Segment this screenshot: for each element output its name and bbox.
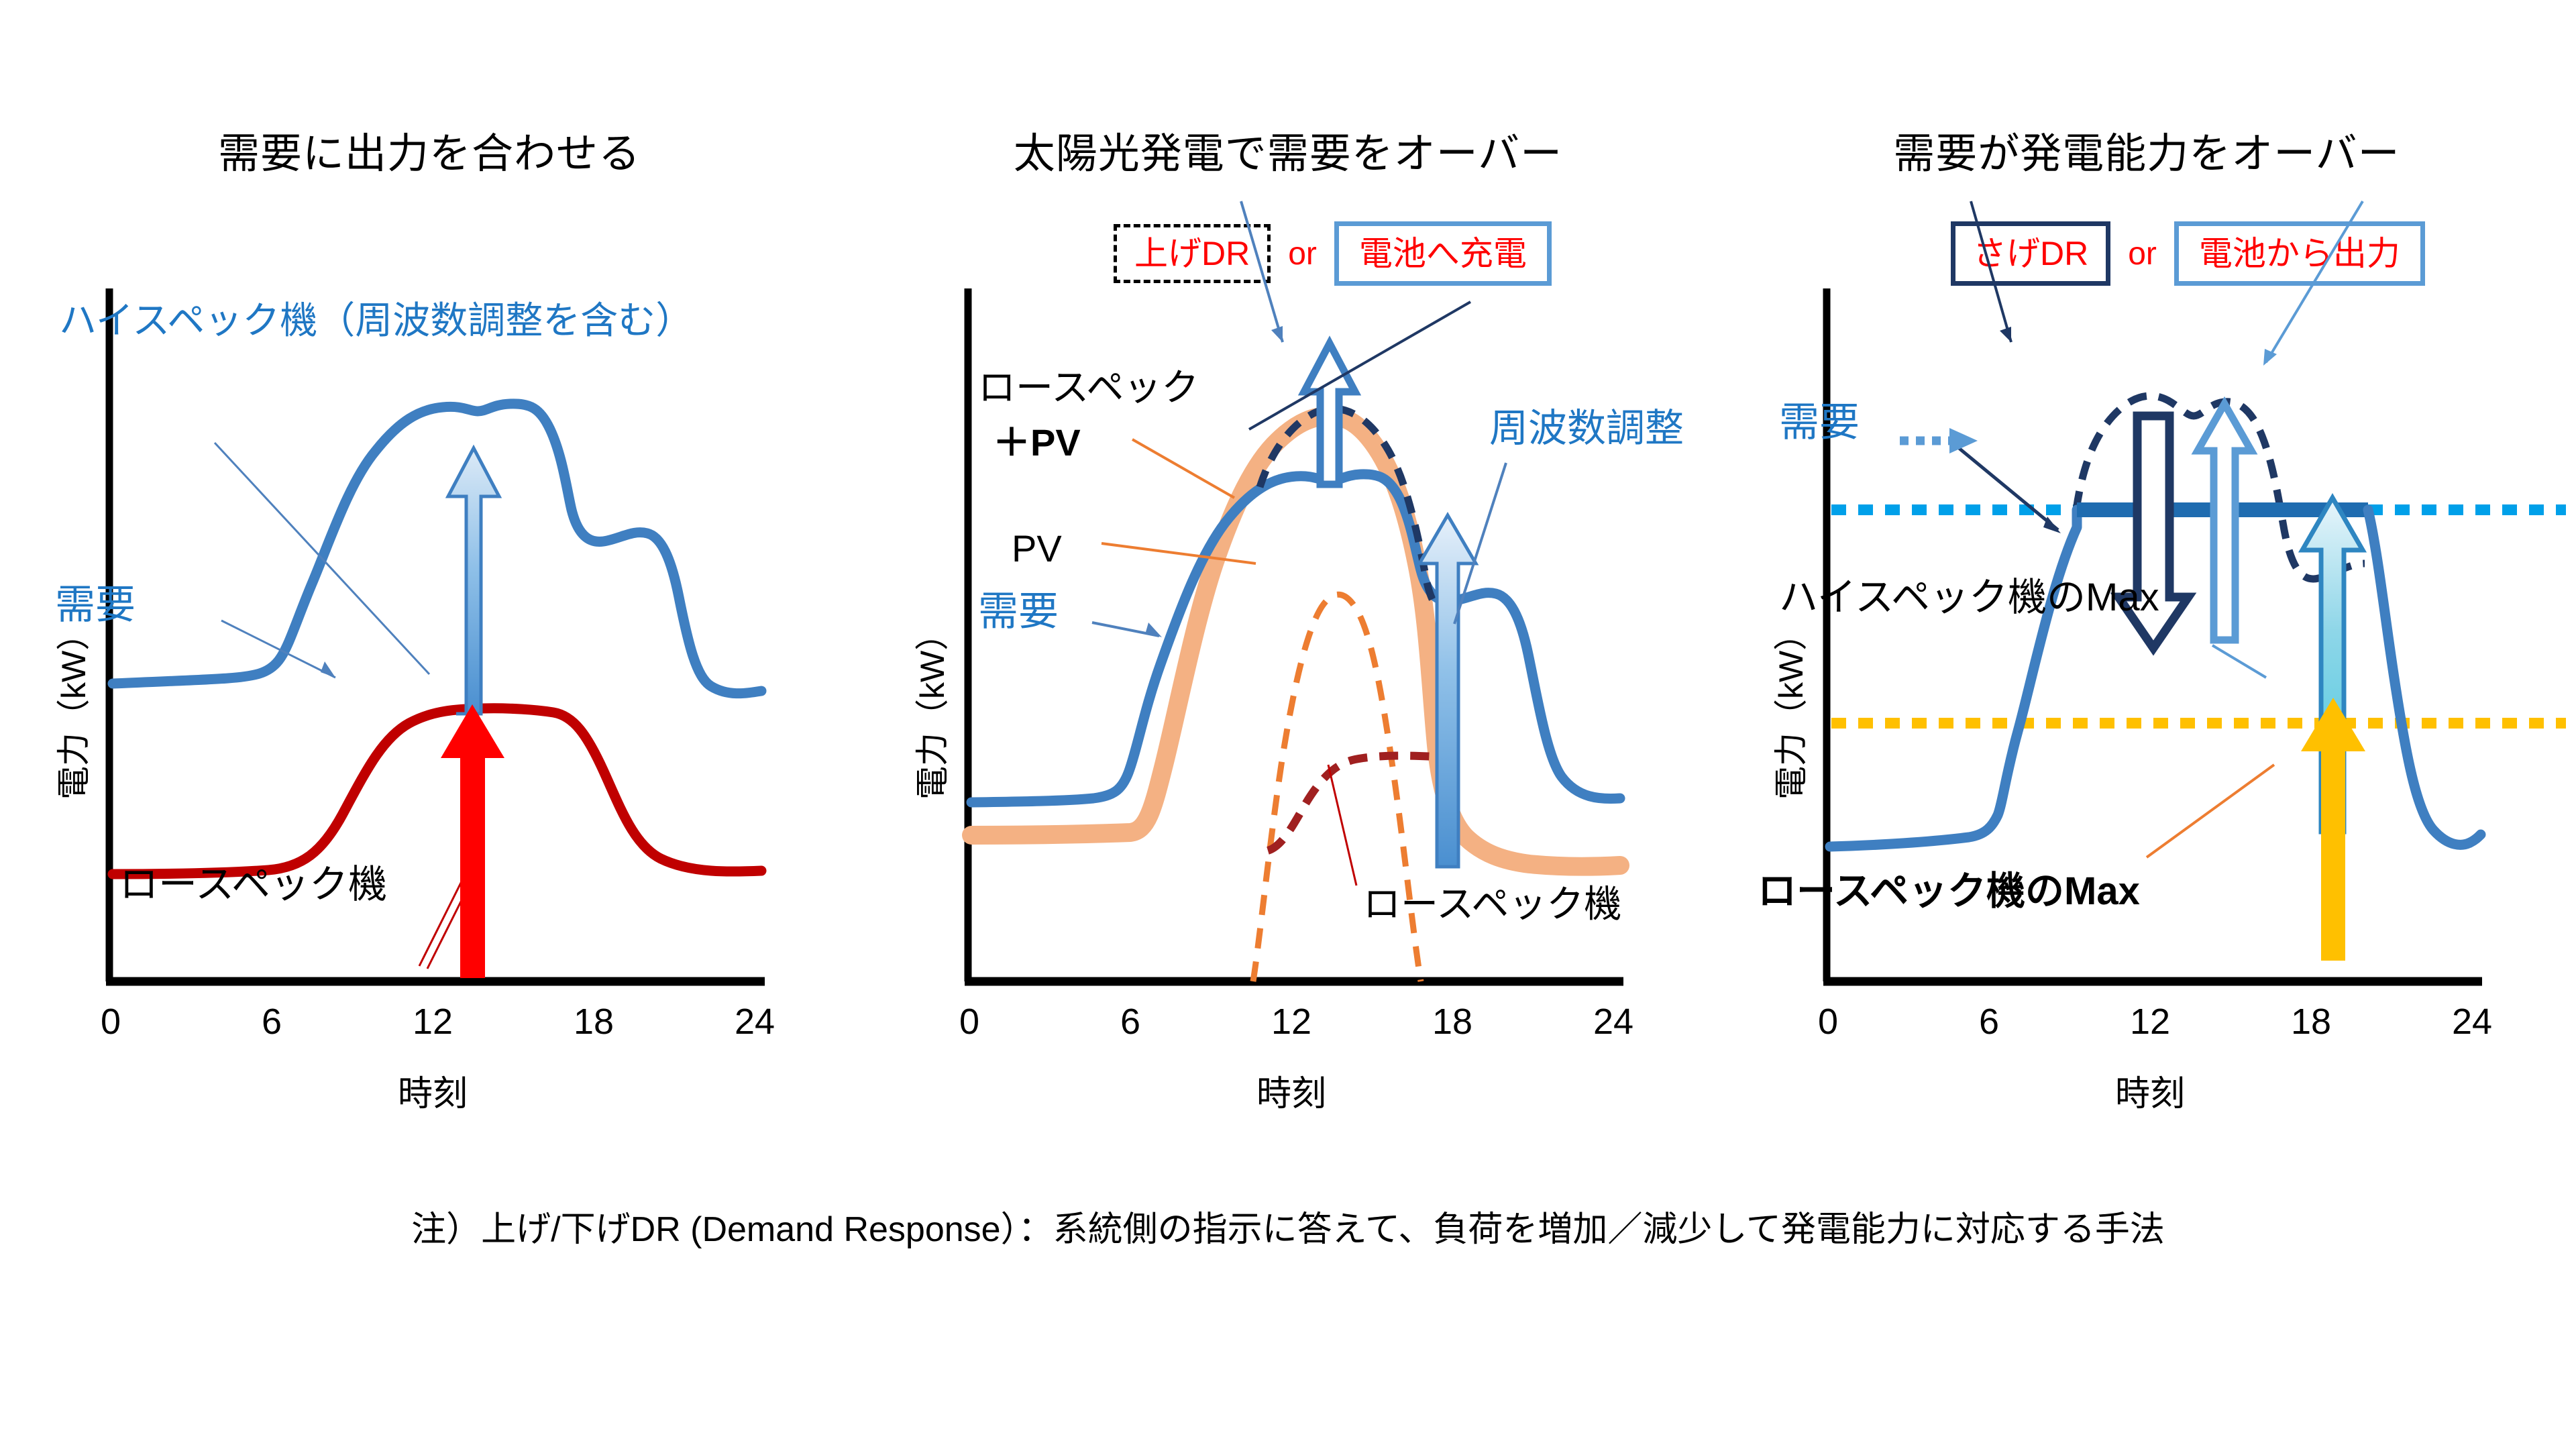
label-low-spec-max: ロースペック機のMax	[1758, 871, 2140, 913]
x-tick-24: 24	[735, 1001, 775, 1042]
label-pv: PV	[1012, 529, 1062, 569]
label-demand: 需要	[1779, 401, 1860, 445]
label-lowspec-pv-2: ＋PV	[993, 423, 1081, 463]
blue-up-arrow	[448, 448, 499, 714]
leader-battery-out	[2266, 201, 2363, 362]
x-tick-24: 24	[2452, 1001, 2492, 1042]
x-tick-18: 18	[1432, 1001, 1472, 1042]
x-tick-18: 18	[2291, 1001, 2331, 1042]
x-tick-24: 24	[1593, 1001, 1633, 1042]
panel-1-plot	[0, 0, 859, 1154]
y-axis-label: 電力（kW）	[906, 617, 954, 800]
label-low-spec: ロースペック機	[119, 864, 387, 906]
demand-curve	[113, 404, 761, 694]
leader-up-dr	[1241, 201, 1283, 342]
label-high-spec: ハイスペック機（周波数調整を含む）	[59, 301, 693, 341]
red-up-arrow	[441, 704, 504, 978]
amber-up-arrow	[2301, 698, 2365, 961]
x-tick-0: 0	[1818, 1001, 1838, 1042]
x-tick-12: 12	[413, 1001, 453, 1042]
x-axis-label: 時刻	[2115, 1065, 2185, 1116]
y-axis-label: 電力（kW）	[1764, 617, 1813, 800]
x-axis-label: 時刻	[1256, 1065, 1326, 1116]
x-tick-12: 12	[1271, 1001, 1311, 1042]
x-tick-6: 6	[1979, 1001, 1999, 1042]
label-demand: 需要	[978, 590, 1059, 634]
x-tick-6: 6	[1120, 1001, 1140, 1042]
leader-demand	[221, 621, 335, 678]
leader-up-dr-head	[1271, 326, 1283, 342]
x-tick-0: 0	[101, 1001, 121, 1042]
label-low-spec: ロースペック機	[1363, 884, 1621, 924]
leader-lowspec-pv	[1132, 439, 1234, 498]
x-tick-0: 0	[959, 1001, 979, 1042]
label-high-spec-max: ハイスペック機のMax	[1779, 577, 2159, 619]
leader-low-spec	[1328, 765, 1356, 885]
leader-battery-out-head	[2263, 349, 2277, 366]
x-tick-6: 6	[262, 1001, 282, 1042]
demand-clipped-descent	[2368, 510, 2481, 845]
lightblue-up-arrow	[2198, 404, 2251, 640]
demand-clipped-curve	[1830, 510, 2077, 847]
leader-low-max	[2147, 765, 2274, 857]
x-tick-18: 18	[574, 1001, 614, 1042]
leader-demand-head	[321, 661, 335, 678]
leader-high-spec	[215, 443, 429, 674]
low-spec-curve	[113, 708, 761, 874]
label-lowspec-pv-1: ロースペック	[978, 368, 1199, 408]
x-tick-12: 12	[2130, 1001, 2170, 1042]
footnote: 注）上げ/下げDR (Demand Response）：系統側の指示に答えて、負…	[0, 1201, 2576, 1251]
demand-curve	[971, 474, 1620, 802]
y-axis-label: 電力（kW）	[47, 617, 95, 800]
leader-sage-dr	[1971, 201, 2011, 342]
leader-pv	[1102, 543, 1256, 563]
panel-demand-overshoot: 需要が発電能力をオーバー さげDR or 電池から出力	[1717, 0, 2576, 1154]
demand-dotted-arrow-icon	[1897, 424, 1984, 458]
label-freq-adjust: 周波数調整	[1489, 408, 1684, 450]
leader-battery	[1249, 302, 1470, 429]
panel-demand-matching: 需要に出力を合わせる ハイスペック機（周波数調整を含む） 需要 ロース	[0, 0, 859, 1154]
panel-pv-overshoot: 太陽光発電で需要をオーバー 上げDR or 電池へ充電	[859, 0, 1717, 1154]
x-axis-label: 時刻	[398, 1065, 468, 1116]
low-spec-curve-dashed	[1268, 756, 1436, 851]
leader-sage-dr-head	[2000, 327, 2011, 342]
panel-2-plot	[859, 0, 1717, 1154]
leader-high-max	[2212, 645, 2266, 678]
